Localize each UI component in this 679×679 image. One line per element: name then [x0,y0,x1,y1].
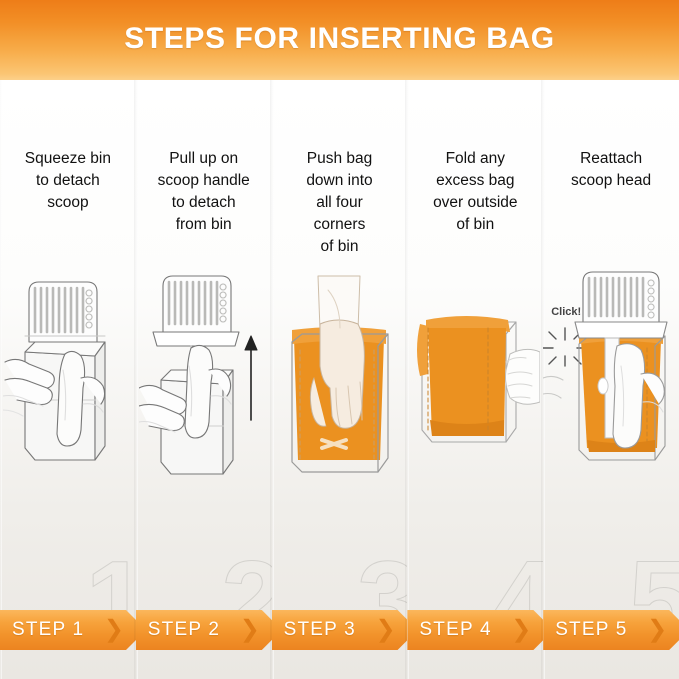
step-column-2: Pull up on scoop handle to detach from b… [136,80,272,679]
chevron-right-icon: ❯ [104,616,124,644]
click-label: Click! [551,306,581,318]
step-banner-label-3: STEP 3 [284,619,356,641]
step-banner-3[interactable]: STEP 3 ❯ [272,610,418,650]
chevron-right-icon: ❯ [375,616,395,644]
step-banner-label-5: STEP 5 [555,619,627,641]
step-illustration-3 [272,270,408,510]
step-caption-2: Pull up on scoop handle to detach from b… [138,148,270,236]
step-banner-label-4: STEP 4 [419,619,491,641]
step-banner-label-1: STEP 1 [12,619,84,641]
step-caption-3: Push bag down into all four corners of b… [274,148,406,258]
chevron-right-icon: ❯ [647,616,667,644]
step-banner-1[interactable]: STEP 1 ❯ [0,610,146,650]
step-banner-4[interactable]: STEP 4 ❯ [407,610,553,650]
infographic-page: STEPS FOR INSERTING BAG Squeeze bin to d… [0,0,679,679]
step-column-4: Fold any excess bag over outside of bin [407,80,543,679]
step-column-3: Push bag down into all four corners of b… [272,80,408,679]
step-illustration-2 [136,270,272,510]
step-illustration-4 [407,270,543,510]
hand-pushing-bag-into-bin-icon [274,270,404,510]
hand-lifting-scoop-icon [139,270,269,510]
page-title: STEPS FOR INSERTING BAG [0,22,679,56]
hand-folding-bag-over-bin-icon [410,270,540,510]
step-caption-5: Reattach scoop head [545,148,677,192]
hands-squeezing-bin-icon [3,270,133,510]
chevron-right-icon: ❯ [240,616,260,644]
step-caption-4: Fold any excess bag over outside of bin [409,148,541,236]
chevron-right-icon: ❯ [511,616,531,644]
step-banner-2[interactable]: STEP 2 ❯ [136,610,282,650]
step-column-1: Squeeze bin to detach scoop [0,80,136,679]
step-caption-1: Squeeze bin to detach scoop [2,148,134,214]
step-column-5: Reattach scoop head Click! [543,80,679,679]
step-banner-5[interactable]: STEP 5 ❯ [543,610,679,650]
step-banner-label-2: STEP 2 [148,619,220,641]
header-banner: STEPS FOR INSERTING BAG [0,0,679,80]
step-illustration-5: Click! [543,270,679,510]
step-illustration-1 [0,270,136,510]
